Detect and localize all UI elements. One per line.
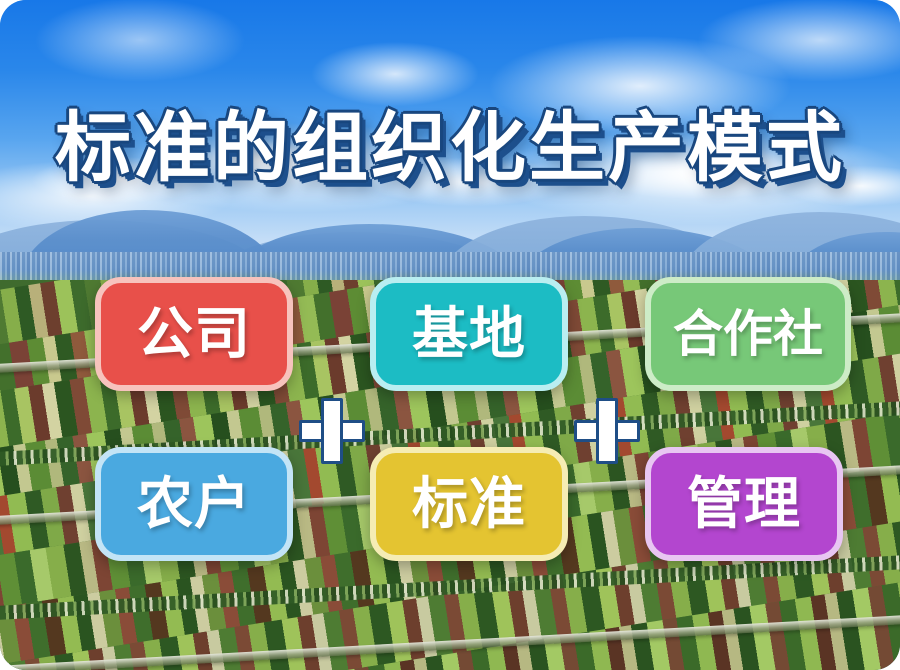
- chip-label: 公司: [137, 306, 251, 362]
- chip-cooperative[interactable]: 合作社: [645, 277, 851, 391]
- plus-center-fill: [324, 423, 340, 439]
- chip-label: 管理: [687, 476, 801, 532]
- formula-grid: 公司 基地 合作社 农户 标准 管理: [0, 0, 900, 670]
- chip-company[interactable]: 公司: [95, 277, 293, 391]
- poster-canvas: 标准的组织化生产模式 公司 基地 合作社 农户 标准 管理: [0, 0, 900, 670]
- chip-farmer[interactable]: 农户: [95, 447, 293, 561]
- chip-base[interactable]: 基地: [370, 277, 568, 391]
- chip-management[interactable]: 管理: [645, 447, 843, 561]
- chip-label: 标准: [412, 476, 526, 532]
- chip-standard[interactable]: 标准: [370, 447, 568, 561]
- plus-sign-right-icon: [572, 396, 642, 466]
- chip-label: 合作社: [673, 309, 823, 359]
- chip-label: 基地: [412, 306, 526, 362]
- plus-center-fill: [599, 423, 615, 439]
- plus-sign-left-icon: [297, 396, 367, 466]
- chip-label: 农户: [137, 476, 251, 532]
